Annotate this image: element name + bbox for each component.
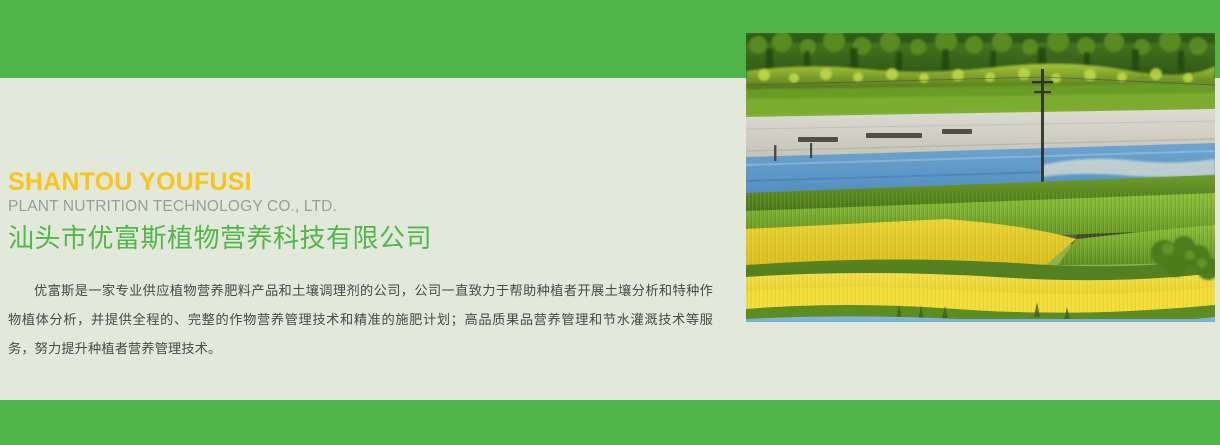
rice-field-photo — [746, 33, 1215, 322]
page-root: SHANTOU YOUFUSI PLANT NUTRITION TECHNOLO… — [0, 0, 1220, 445]
rice-field-photo-illustration — [746, 33, 1215, 322]
brand-block: SHANTOU YOUFUSI PLANT NUTRITION TECHNOLO… — [8, 168, 728, 256]
company-name-chinese: 汕头市优富斯植物营养科技有限公司 — [8, 222, 728, 256]
bottom-green-band — [0, 400, 1220, 445]
company-subtitle-english: PLANT NUTRITION TECHNOLOGY CO., LTD. — [8, 197, 728, 216]
left-content-column: SHANTOU YOUFUSI PLANT NUTRITION TECHNOLO… — [0, 78, 746, 400]
company-intro-paragraph: 优富斯是一家专业供应植物营养肥料产品和土壤调理剂的公司，公司一直致力于帮助种植者… — [8, 276, 713, 363]
company-name-english: SHANTOU YOUFUSI — [8, 168, 728, 196]
